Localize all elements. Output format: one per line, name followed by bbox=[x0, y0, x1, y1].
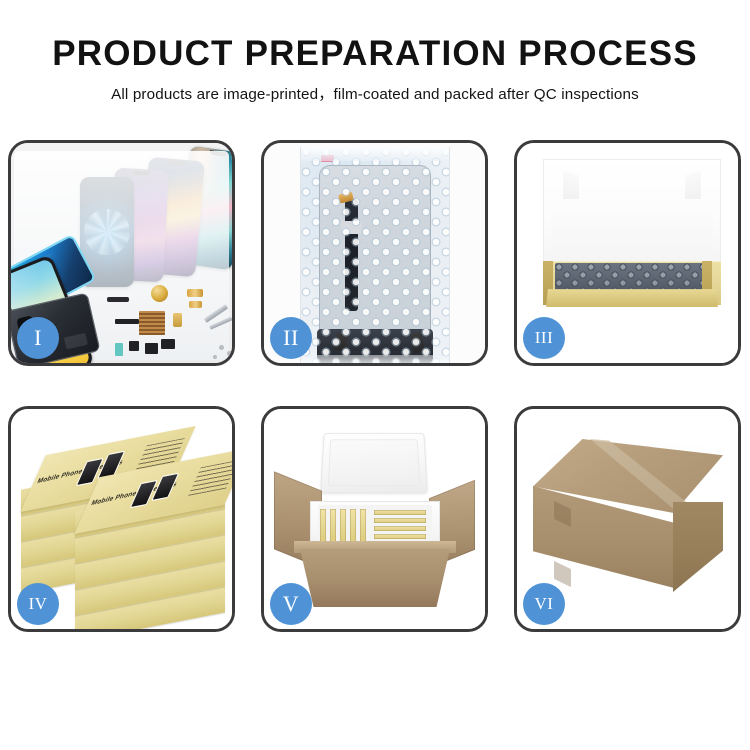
part-teal-component-icon bbox=[115, 343, 123, 356]
step-badge-4: IV bbox=[17, 583, 59, 625]
part-speaker-coin-icon bbox=[151, 285, 168, 302]
step-badge-5: V bbox=[270, 583, 312, 625]
part-chip-icon bbox=[107, 297, 129, 302]
bag-seal-bottom bbox=[301, 355, 449, 363]
foam-liner-icon bbox=[551, 199, 713, 265]
step-panel-5: V bbox=[261, 406, 488, 632]
part-flex-cable-icon bbox=[187, 289, 203, 297]
bag-seal-top bbox=[301, 147, 449, 161]
part-ic-grid-icon bbox=[139, 311, 165, 335]
foam-box-lid-icon bbox=[320, 433, 428, 493]
part-connector-icon bbox=[115, 319, 139, 324]
packed-retail-box bbox=[320, 509, 326, 543]
page-subtitle: All products are image-printed，film-coat… bbox=[0, 73, 750, 104]
page-title: PRODUCT PREPARATION PROCESS bbox=[0, 0, 750, 73]
carton-side-face bbox=[673, 502, 723, 592]
packed-retail-box bbox=[374, 534, 426, 539]
step-panel-4: Mobile Phone Spare Parts Mobile Phone Sp… bbox=[8, 406, 235, 632]
packed-retail-box bbox=[360, 509, 366, 543]
packed-retail-box bbox=[330, 509, 336, 543]
step-badge-3: III bbox=[523, 317, 565, 359]
part-small-chip-icon bbox=[129, 341, 139, 351]
box-spec-text-lines bbox=[188, 460, 232, 496]
step-badge-6: VI bbox=[523, 583, 565, 625]
packed-retail-box bbox=[374, 518, 426, 523]
step-panel-3: III bbox=[514, 140, 741, 366]
screen-protector-glass-icon bbox=[11, 143, 51, 249]
product-preparation-infographic: PRODUCT PREPARATION PROCESS All products… bbox=[0, 0, 750, 750]
carton-seam-tab bbox=[554, 561, 571, 587]
part-gold-contact-icon bbox=[173, 313, 182, 327]
bubble-texture bbox=[301, 147, 449, 363]
step-panel-2: II bbox=[261, 140, 488, 366]
step-panel-1: I bbox=[8, 140, 235, 366]
sealed-carton-icon bbox=[533, 439, 723, 607]
part-screw-icon bbox=[227, 351, 232, 356]
step-badge-1: I bbox=[17, 317, 59, 359]
packed-retail-box bbox=[340, 509, 346, 543]
packed-retail-box bbox=[374, 510, 426, 515]
process-steps-grid: I II bbox=[8, 140, 742, 685]
part-screw-icon bbox=[213, 355, 217, 359]
packed-retail-box bbox=[374, 526, 426, 531]
part-connector-icon bbox=[161, 339, 175, 349]
step-panel-6: VI bbox=[514, 406, 741, 632]
part-flex-cable-icon bbox=[189, 301, 202, 308]
step-badge-2: II bbox=[270, 317, 312, 359]
part-screw-icon bbox=[219, 345, 224, 350]
bubble-wrap-bag-icon bbox=[300, 147, 450, 363]
carton-body-icon bbox=[300, 549, 450, 607]
header: PRODUCT PREPARATION PROCESS All products… bbox=[0, 0, 750, 104]
box-front-edge bbox=[546, 289, 718, 307]
packed-retail-box bbox=[350, 509, 356, 543]
bubble-wrapped-part-icon bbox=[555, 263, 707, 291]
part-small-chip-icon bbox=[145, 343, 158, 354]
